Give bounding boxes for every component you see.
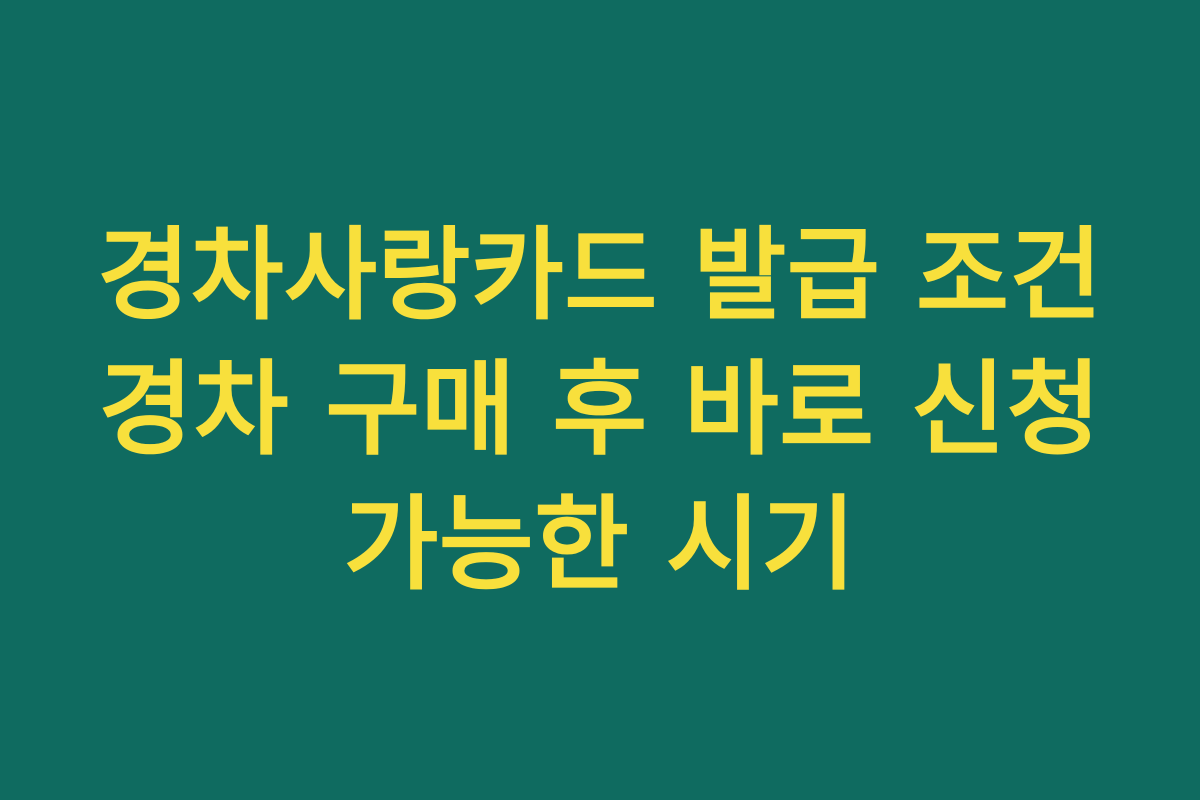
headline-text-block: 경차사랑카드 발급 조건 경차 구매 후 바로 신청 가능한 시기 bbox=[0, 208, 1200, 613]
headline-line-1: 경차사랑카드 발급 조건 bbox=[24, 208, 1176, 343]
headline-line-2: 경차 구매 후 바로 신청 bbox=[24, 343, 1176, 478]
thumbnail-canvas: 경차사랑카드 발급 조건 경차 구매 후 바로 신청 가능한 시기 bbox=[0, 0, 1200, 800]
headline-line-3: 가능한 시기 bbox=[24, 478, 1176, 613]
